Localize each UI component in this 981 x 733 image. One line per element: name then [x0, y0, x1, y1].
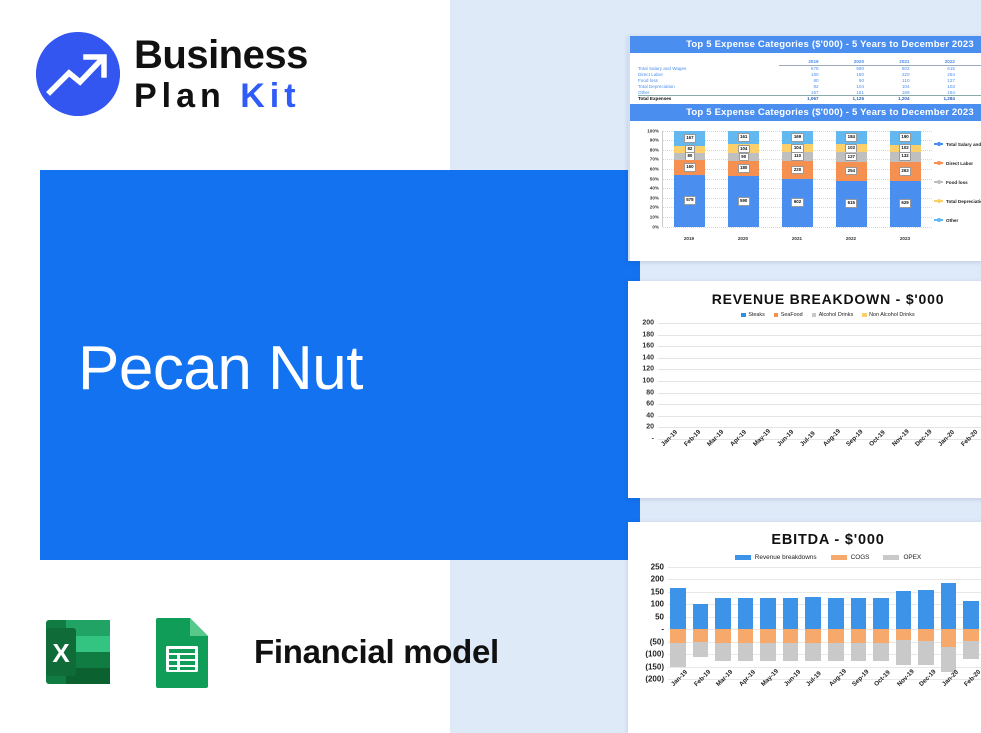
y-axis-tick: 30% — [633, 195, 659, 200]
legend-label: OPEX — [903, 554, 921, 561]
legend-item: Total Salary and Wages — [934, 135, 981, 154]
legend-label: Food loss — [946, 180, 968, 185]
legend-swatch — [862, 313, 867, 318]
bar-value-label: 132 — [899, 152, 911, 161]
bar-value-label: 161 — [738, 133, 750, 142]
y-axis-tick: 20% — [633, 205, 659, 210]
y-axis-tick: 70% — [633, 157, 659, 162]
legend-swatch — [741, 313, 746, 318]
legend-marker — [934, 162, 943, 164]
y-axis-tick: 20 — [629, 424, 654, 431]
y-axis-tick: 80% — [633, 147, 659, 152]
y-axis-tick: 100 — [629, 378, 654, 385]
y-axis-tick: 10% — [633, 215, 659, 220]
legend-label: Alcohol Drinks — [819, 312, 853, 318]
slide-canvas: Business Plan Kit Pecan Nut X — [0, 0, 981, 733]
brand-plan-text: Plan — [134, 77, 240, 115]
legend-swatch — [831, 555, 847, 560]
legend-item: Alcohol Drinks — [812, 312, 853, 318]
legend-marker — [934, 200, 943, 202]
ebitda-chart-title: EBITDA - $'000 — [628, 522, 981, 548]
expense-categories-card: Top 5 Expense Categories ($'000) - 5 Yea… — [628, 36, 981, 261]
y-axis-tick: (50) — [629, 637, 664, 646]
revenue-chart-plot: -20406080100120140160180200 Jan-19Feb-19… — [628, 319, 981, 477]
legend-label: Direct Labor — [946, 161, 973, 166]
legend-swatch — [774, 313, 779, 318]
stacked-bar: 184103127254615 — [836, 131, 867, 227]
y-axis-tick: 40 — [629, 412, 654, 419]
y-axis-tick: 50 — [629, 612, 664, 621]
legend-item: COGS — [831, 554, 870, 561]
y-axis-tick: 160 — [629, 343, 654, 350]
legend-label: Revenue breakdowns — [755, 554, 817, 561]
trend-arrow-circle-icon — [36, 32, 120, 116]
x-axis-tick: 2022 — [835, 236, 866, 241]
legend-label: Non Alcohol Drinks — [869, 312, 915, 318]
y-axis-tick: - — [629, 625, 664, 634]
y-axis-tick: 180 — [629, 331, 654, 338]
revenue-chart-legend: SteaksSeaFoodAlcohol DrinksNon Alcohol D… — [628, 312, 981, 318]
ebitda-chart-legend: Revenue breakdownsCOGSOPEX — [628, 554, 981, 561]
table-cell: 1,125 — [825, 95, 870, 101]
legend-item: Direct Labor — [934, 154, 981, 173]
legend-item: Total Depreciation — [934, 192, 981, 211]
x-axis-tick: 2021 — [781, 236, 812, 241]
y-axis-tick: 100% — [633, 128, 659, 133]
legend-label: COGS — [851, 554, 870, 561]
x-axis-tick: 2019 — [673, 236, 704, 241]
y-axis-tick: 200 — [629, 575, 664, 584]
legend-item: Other — [934, 211, 981, 230]
stacked-bar: 190102132263629 — [890, 131, 921, 227]
y-axis-tick: 80 — [629, 389, 654, 396]
table-row: Total Expenses1,0671,1251,2041,2841,316 — [638, 95, 981, 101]
y-axis-tick: 200 — [629, 320, 654, 327]
expense-chart-banner: Top 5 Expense Categories ($'000) - 5 Yea… — [630, 104, 981, 121]
bar-value-label: 590 — [738, 197, 750, 206]
legend-label: Total Salary and Wages — [946, 142, 981, 147]
legend-item: SeaFood — [774, 312, 803, 318]
stacked-bar: 169104110220602 — [782, 131, 813, 227]
google-sheets-icon — [142, 612, 222, 692]
x-axis-tick: 2020 — [727, 236, 758, 241]
format-label: Financial model — [254, 633, 499, 671]
table-cell: 1,204 — [870, 95, 915, 101]
microsoft-excel-icon: X — [38, 612, 118, 692]
brand-name-line2: Plan Kit — [134, 79, 308, 113]
legend-swatch — [812, 313, 817, 318]
legend-label: Total Depreciation — [946, 199, 981, 204]
bar-value-label: 169 — [791, 133, 803, 142]
bar-value-label: 578 — [684, 196, 696, 205]
y-axis-tick: 250 — [629, 563, 664, 572]
bar-value-label: 220 — [791, 166, 803, 175]
y-axis-tick: 120 — [629, 366, 654, 373]
y-axis-tick: (150) — [629, 662, 664, 671]
bar-value-label: 110 — [791, 152, 803, 161]
y-axis-tick: 100 — [629, 600, 664, 609]
bar-value-label: 127 — [845, 153, 857, 162]
legend-item: Revenue breakdowns — [735, 554, 817, 561]
table-cell: 1,067 — [779, 95, 824, 101]
revenue-chart-title: REVENUE BREAKDOWN - $'000 — [628, 281, 981, 307]
brand-kit-text: Kit — [240, 77, 300, 115]
y-axis-tick: (200) — [629, 675, 664, 684]
stacked-bar: 1678280160578 — [674, 131, 705, 227]
legend-label: Other — [946, 218, 958, 223]
revenue-breakdown-card: REVENUE BREAKDOWN - $'000 SteaksSeaFoodA… — [628, 281, 981, 498]
y-axis-tick: 0% — [633, 224, 659, 229]
table-cell: 1,284 — [916, 95, 961, 101]
y-axis-tick: 50% — [633, 176, 659, 181]
legend-swatch — [883, 555, 899, 560]
table-row-label: Total Expenses — [638, 95, 779, 101]
ebitda-chart-plot: 25020015010050-(50)(100)(150)(200) Jan-1… — [628, 563, 981, 713]
brand-logo: Business Plan Kit — [36, 32, 308, 116]
bar-value-label: 104 — [738, 145, 750, 154]
legend-marker — [934, 143, 943, 145]
legend-item: Non Alcohol Drinks — [862, 312, 915, 318]
x-axis-tick: 2023 — [889, 236, 920, 241]
legend-swatch — [735, 555, 751, 560]
legend-marker — [934, 181, 943, 183]
legend-item: Food loss — [934, 173, 981, 192]
bar-value-label: 180 — [738, 164, 750, 173]
format-row: X Financial model — [38, 612, 499, 692]
y-axis-tick: 140 — [629, 354, 654, 361]
y-axis-tick: - — [629, 436, 654, 443]
legend-item: OPEX — [883, 554, 921, 561]
y-axis-tick: 90% — [633, 138, 659, 143]
svg-text:X: X — [52, 638, 70, 668]
expense-stacked-chart: 0%10%20%30%40%50%60%70%80%90%100%1678280… — [632, 125, 981, 243]
stacked-bar: 16110490180590 — [728, 131, 759, 227]
y-axis-tick: (100) — [629, 650, 664, 659]
bar-value-label: 184 — [845, 133, 857, 142]
y-axis-tick: 150 — [629, 587, 664, 596]
legend-label: SeaFood — [781, 312, 803, 318]
legend-item: Steaks — [741, 312, 764, 318]
bar-value-label: 263 — [899, 167, 911, 176]
brand-name-line1: Business — [134, 35, 308, 75]
bar-value-label: 190 — [899, 133, 911, 142]
expense-table-banner: Top 5 Expense Categories ($'000) - 5 Yea… — [630, 36, 981, 53]
legend-marker — [934, 219, 943, 221]
table-cell: 1,316 — [961, 95, 981, 101]
page-title: Pecan Nut — [78, 333, 363, 404]
bar-value-label: 104 — [791, 144, 803, 153]
bar-value-label: 615 — [845, 199, 857, 208]
bar-value-label: 602 — [791, 198, 803, 207]
bar-value-label: 160 — [684, 163, 696, 172]
y-axis-tick: 60% — [633, 167, 659, 172]
y-axis-tick: 60 — [629, 401, 654, 408]
ebitda-card: EBITDA - $'000 Revenue breakdownsCOGSOPE… — [628, 522, 981, 733]
bar-value-label: 167 — [684, 134, 696, 143]
legend-label: Steaks — [748, 312, 764, 318]
bar-value-label: 629 — [899, 199, 911, 208]
bar-value-label: 254 — [845, 167, 857, 176]
expense-table: 20192020202120222023Total Salary and Wag… — [630, 53, 981, 104]
y-axis-tick: 40% — [633, 186, 659, 191]
